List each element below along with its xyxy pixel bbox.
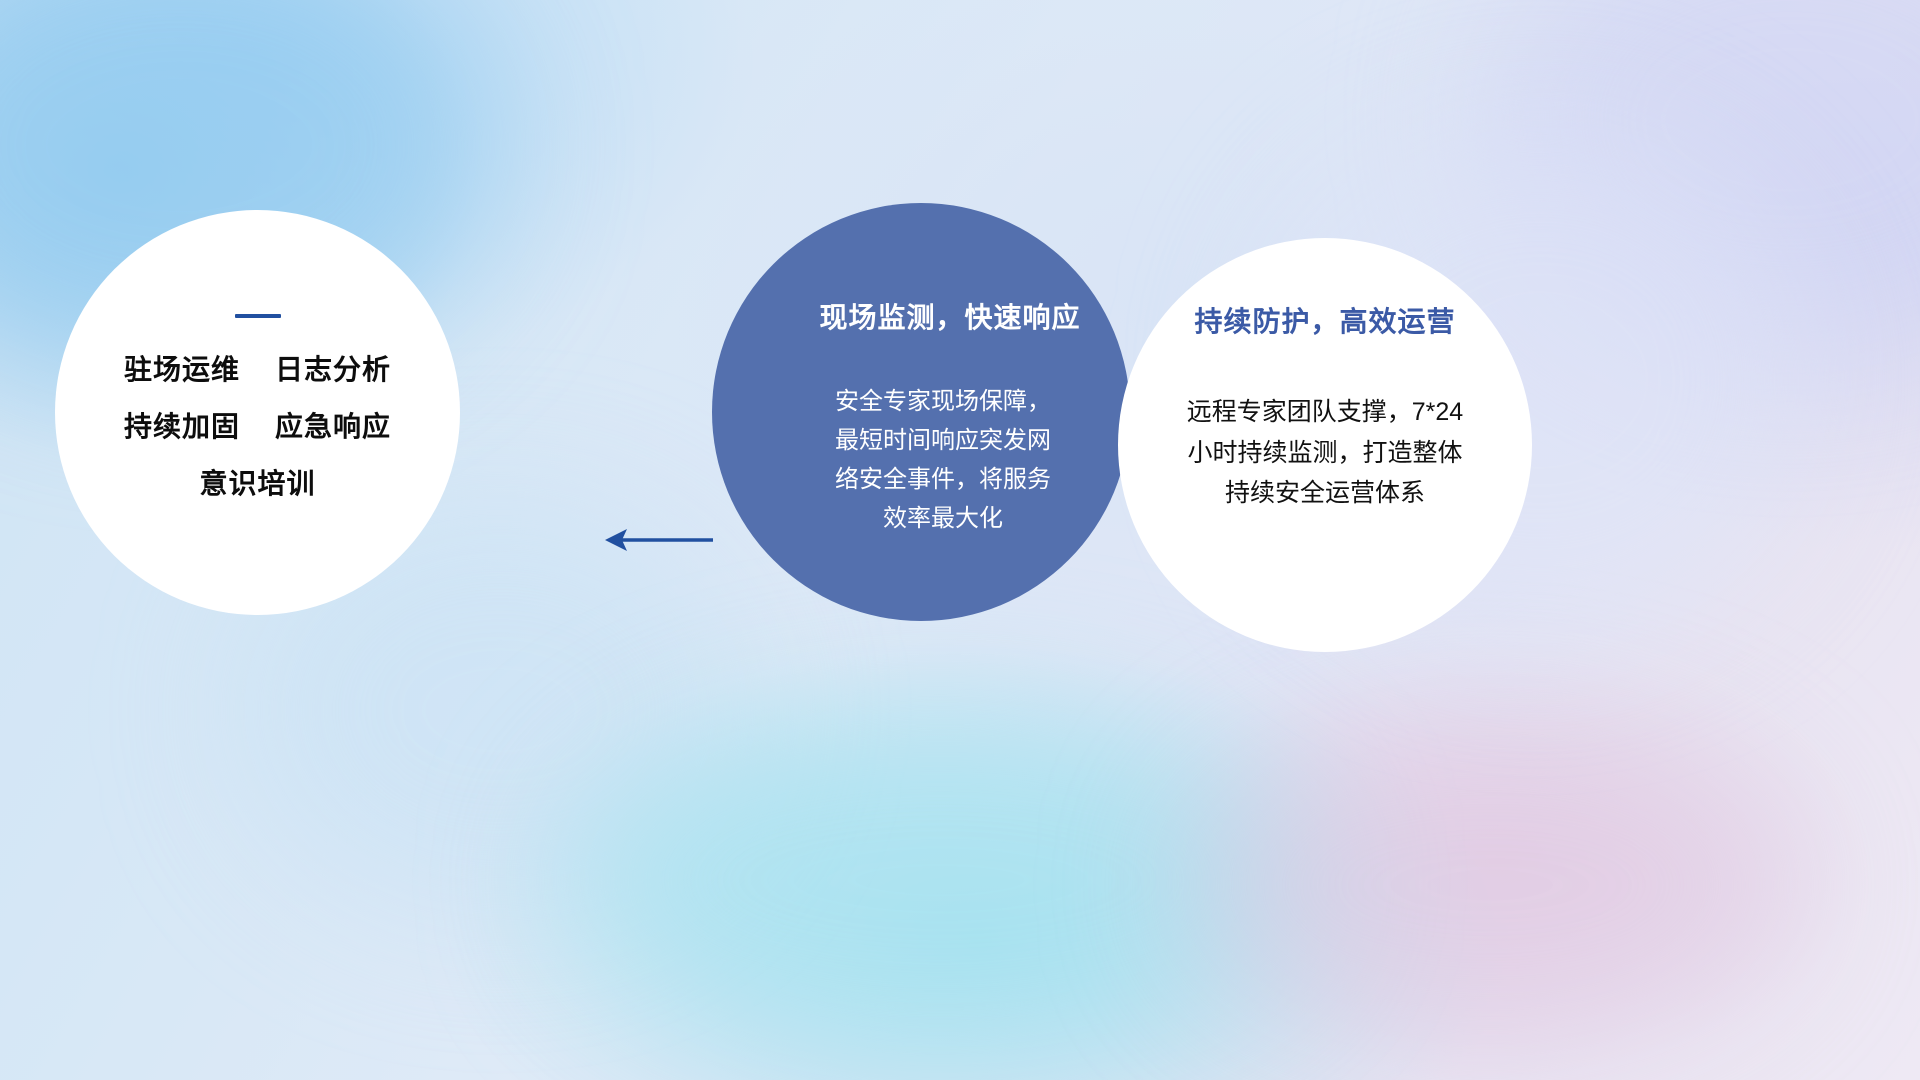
middle-body-line-3: 络安全事件，将服务 xyxy=(807,461,1079,500)
left-circle-line-2: 持续加固 应急响应 xyxy=(124,413,391,441)
right-circle-title: 持续防护，高效运营 xyxy=(1194,300,1455,340)
left-circle-line-3: 意识培训 xyxy=(199,470,315,498)
left-arrow-icon xyxy=(495,520,715,560)
right-circle-body: 远程专家团队支撑，7*24 小时持续监测，打造整体 持续安全运营体系 xyxy=(1150,392,1500,514)
right-operations-circle[interactable]: 持续防护，高效运营 远程专家团队支撑，7*24 小时持续监测，打造整体 持续安全… xyxy=(1118,238,1532,652)
left-capability-circle[interactable]: 驻场运维 日志分析 持续加固 应急响应 意识培训 xyxy=(55,210,460,615)
slide-canvas: 驻场运维 日志分析 持续加固 应急响应 意识培训 现场监测，快速响应 安全专家现… xyxy=(0,0,1920,1080)
right-body-line-3: 持续安全运营体系 xyxy=(1150,473,1500,514)
left-circle-line-1: 驻场运维 日志分析 xyxy=(124,356,391,384)
background-blob-top-right xyxy=(1480,0,1920,360)
middle-body-line-2: 最短时间响应突发网 xyxy=(807,422,1079,461)
background-blob-bottom-right xyxy=(1180,720,1800,1050)
divider-dash-icon xyxy=(235,314,281,318)
middle-circle-body: 安全专家现场保障， 最短时间响应突发网 络安全事件，将服务 效率最大化 xyxy=(807,383,1079,539)
middle-body-line-1: 安全专家现场保障， xyxy=(807,383,1079,422)
middle-body-line-4: 效率最大化 xyxy=(807,500,1079,539)
middle-onsite-circle[interactable]: 现场监测，快速响应 安全专家现场保障， 最短时间响应突发网 络安全事件，将服务 … xyxy=(712,203,1130,621)
right-body-line-1: 远程专家团队支撑，7*24 xyxy=(1150,392,1500,433)
middle-circle-title: 现场监测，快速响应 xyxy=(819,296,1080,336)
right-body-line-2: 小时持续监测，打造整体 xyxy=(1150,433,1500,474)
background-blob-bottom-center xyxy=(560,700,1320,1060)
